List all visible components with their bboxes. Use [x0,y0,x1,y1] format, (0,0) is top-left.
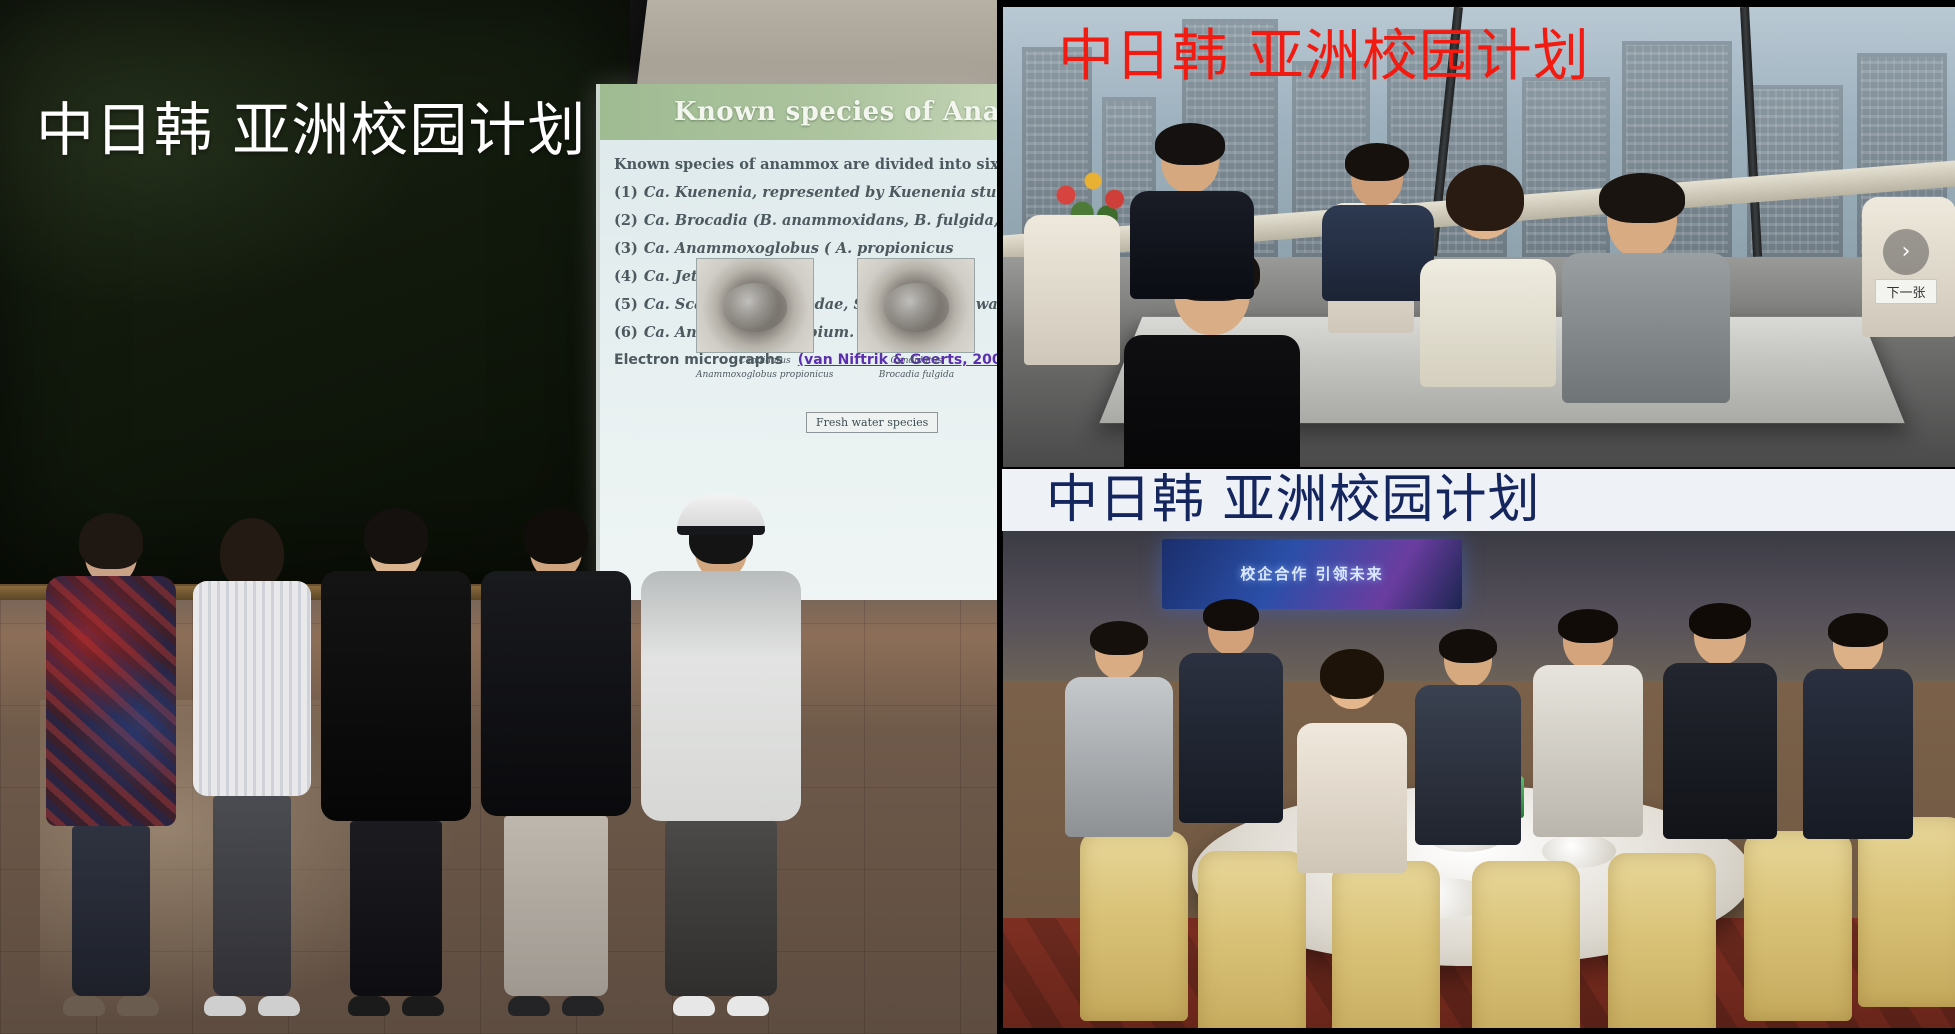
cafe-chair [1024,215,1120,365]
banquet-photo-panel[interactable]: 校企合作 引领未来 [1002,531,1955,1028]
person-hair [1090,621,1148,655]
person-torso [1130,191,1254,299]
person-head [370,517,422,579]
person-hair [1155,123,1225,165]
banquet-guest [1802,615,1914,839]
cafe-person-center-right [1420,169,1550,387]
person-torso [193,581,311,796]
slide-item-text: Ca. Brocadia (B. anammoxidans, B. fulgid… [644,212,997,229]
slide-item-text: Ca. Anammoxoglobus ( A. propionicus [644,240,954,257]
chevron-right-icon[interactable]: › [1883,229,1929,275]
next-image-label[interactable]: 下一张 [1875,279,1937,304]
person-hair [1446,165,1524,231]
slide-item-text: Ca. Kuenenia, represented by Kuenenia st… [644,184,997,201]
person-torso [46,576,176,826]
slide-item-number: (3) [614,240,638,257]
banquet-guest [1414,631,1522,845]
person-shoes [508,996,604,1016]
cafe-person-right [1562,177,1722,403]
group-photo-people [0,300,997,1034]
person-shoes [204,996,300,1016]
banquet-chair [1744,831,1852,1021]
stage-led-screen: 校企合作 引领未来 [1162,539,1462,609]
person-torso [1420,259,1556,387]
person-torso [1179,653,1283,823]
person-torso [1663,663,1777,839]
left-caption-overlay: 中日韩 亚洲校园计划 [36,101,586,159]
classroom-photo-panel[interactable]: Known species of Anammox Known species o… [0,0,997,1034]
cafe-person-back-left [1130,127,1250,299]
banquet-chair [1472,861,1580,1028]
banquet-chair [1858,817,1955,1007]
slide-title: Known species of Anammox [674,97,997,127]
bottom-right-caption-overlay: 中日韩 亚洲校园计划 [1046,474,1541,526]
banquet-guest [1178,601,1284,823]
slide-item-number: (4) [614,268,638,285]
person-torso [1297,723,1407,873]
person-torso [481,571,631,816]
person-torso [1562,253,1730,403]
person-legs [504,816,608,996]
baseball-cap [677,495,765,535]
slide-lead-text: Known species of anammox are divided int… [614,156,989,173]
top-right-caption-overlay: 中日韩 亚洲校园计划 [1058,29,1590,85]
cafe-person-back-center [1322,147,1432,301]
person-legs [72,826,150,996]
person-5 [636,517,806,1016]
person-1 [36,522,186,1016]
slide-item-number: (2) [614,212,638,229]
person-head [85,522,137,584]
person-legs [213,796,291,996]
person-hair [1320,649,1384,699]
banquet-guest [1662,605,1778,839]
banquet-chair [1608,853,1716,1028]
bottom-right-caption-band: 中日韩 亚洲校园计划 [1002,469,1955,531]
stage-screen-text: 校企合作 引领未来 [1162,539,1462,609]
person-torso [1803,669,1913,839]
person-torso [1322,205,1434,301]
slide-title-bar: Known species of Anammox [600,84,997,140]
banquet-guest [1296,651,1408,873]
cafe-photo-panel[interactable]: 中日韩 亚洲校园计划 › 下一张 [1002,7,1955,467]
banquet-chair [1332,861,1440,1028]
person-head [226,527,278,589]
person-torso [1065,677,1173,837]
banquet-chair [1198,851,1306,1028]
person-3 [316,517,476,1016]
person-hair [220,518,284,590]
person-hair [1558,609,1618,643]
person-legs [350,821,442,996]
person-hair [364,508,428,564]
banquet-guest [1064,623,1174,837]
person-torso [1533,665,1643,837]
slide-item-number: (1) [614,184,638,201]
slide-list-item: (3)Ca. Anammoxoglobus ( A. propionicus [614,240,989,257]
slide-list-item: (1)Ca. Kuenenia, represented by Kuenenia… [614,184,989,201]
banquet-guest [1532,611,1644,837]
person-torso [321,571,471,821]
person-shoes [348,996,444,1016]
screenshot-canvas: Known species of Anammox Known species o… [0,0,1955,1034]
person-4 [476,517,636,1016]
person-hair [1689,603,1751,639]
person-hair [79,513,143,569]
banquet-chair [1080,831,1188,1021]
person-hair [524,508,588,564]
person-hair [1345,143,1409,181]
person-hair [1203,599,1259,631]
next-image-control[interactable]: › 下一张 [1875,229,1937,291]
right-photo-column: 中日韩 亚洲校园计划 › 下一张 校企合作 引领未来 [997,0,1955,1034]
person-shoes [63,996,159,1016]
person-2 [182,527,322,1016]
person-legs [665,821,777,996]
person-torso [1124,335,1300,467]
person-torso [641,571,801,821]
person-hair [1599,173,1685,223]
person-shoes [673,996,769,1016]
person-hair [1439,629,1497,663]
slide-list-item: (2)Ca. Brocadia (B. anammoxidans, B. ful… [614,212,989,229]
person-head [695,517,747,579]
person-torso [1415,685,1521,845]
person-head [530,517,582,579]
person-hair [1828,613,1888,647]
